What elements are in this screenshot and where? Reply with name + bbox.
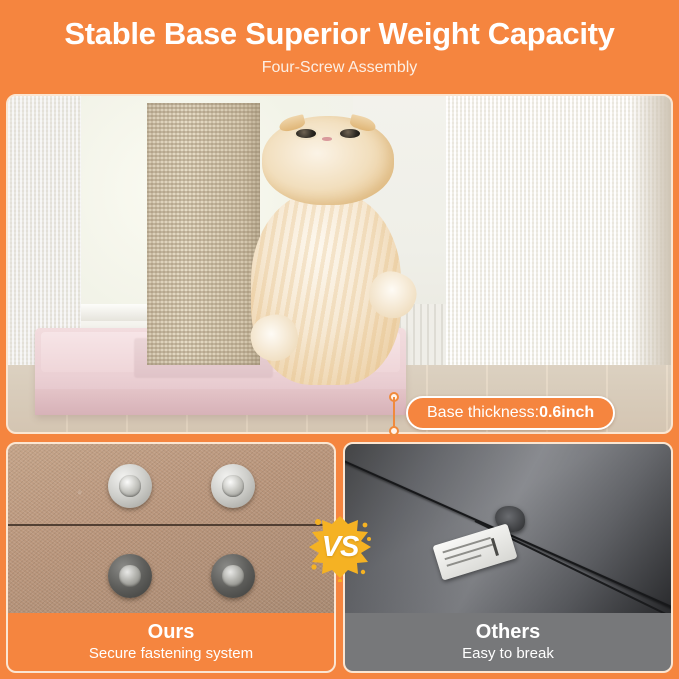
- base-thickness-badge: Base thickness: 0.6inch: [406, 396, 615, 430]
- ours-photo: [8, 444, 334, 617]
- cat-eye-left: [296, 129, 316, 139]
- cat-head: [262, 116, 394, 205]
- comparison-panel-others: Others Easy to break: [343, 442, 673, 673]
- others-caption-title: Others: [476, 620, 540, 644]
- tag-mark: [491, 535, 508, 556]
- screw-icon: [211, 464, 255, 508]
- curtain-right: [446, 96, 671, 378]
- ours-caption-title: Ours: [148, 620, 195, 644]
- screw-head: [119, 565, 140, 586]
- screw-icon: [108, 554, 152, 598]
- base-thickness-label: Base thickness:: [427, 404, 539, 422]
- vs-label: VS: [305, 512, 375, 582]
- carpet-texture: [8, 444, 334, 617]
- ours-caption: Ours Secure fastening system: [8, 613, 334, 671]
- screw-head: [222, 475, 243, 496]
- screw-head: [222, 565, 243, 586]
- others-caption: Others Easy to break: [345, 613, 671, 671]
- others-caption-subtitle: Easy to break: [462, 644, 554, 664]
- carpet-seam: [8, 524, 334, 526]
- screw-icon: [211, 554, 255, 598]
- screw-head: [119, 475, 140, 496]
- cat-eye-right: [340, 129, 360, 139]
- product-infographic: Stable Base Superior Weight Capacity Fou…: [0, 0, 679, 679]
- page-subtitle: Four-Screw Assembly: [0, 56, 679, 80]
- others-photo: [345, 444, 671, 617]
- cat-nose: [322, 137, 331, 141]
- thickness-caliper-icon: [389, 392, 399, 436]
- page-title: Stable Base Superior Weight Capacity: [0, 14, 679, 54]
- room-scene: [8, 96, 671, 432]
- screw-icon: [108, 464, 152, 508]
- header: Stable Base Superior Weight Capacity Fou…: [0, 0, 679, 92]
- ours-caption-subtitle: Secure fastening system: [89, 644, 253, 664]
- cat: [240, 116, 419, 385]
- comparison-panel-ours: Ours Secure fastening system: [6, 442, 336, 673]
- base-thickness-value: 0.6inch: [539, 404, 594, 422]
- caliper-dot-bottom: [389, 426, 399, 436]
- hero-photo: [6, 94, 673, 434]
- vs-badge: VS: [305, 512, 375, 582]
